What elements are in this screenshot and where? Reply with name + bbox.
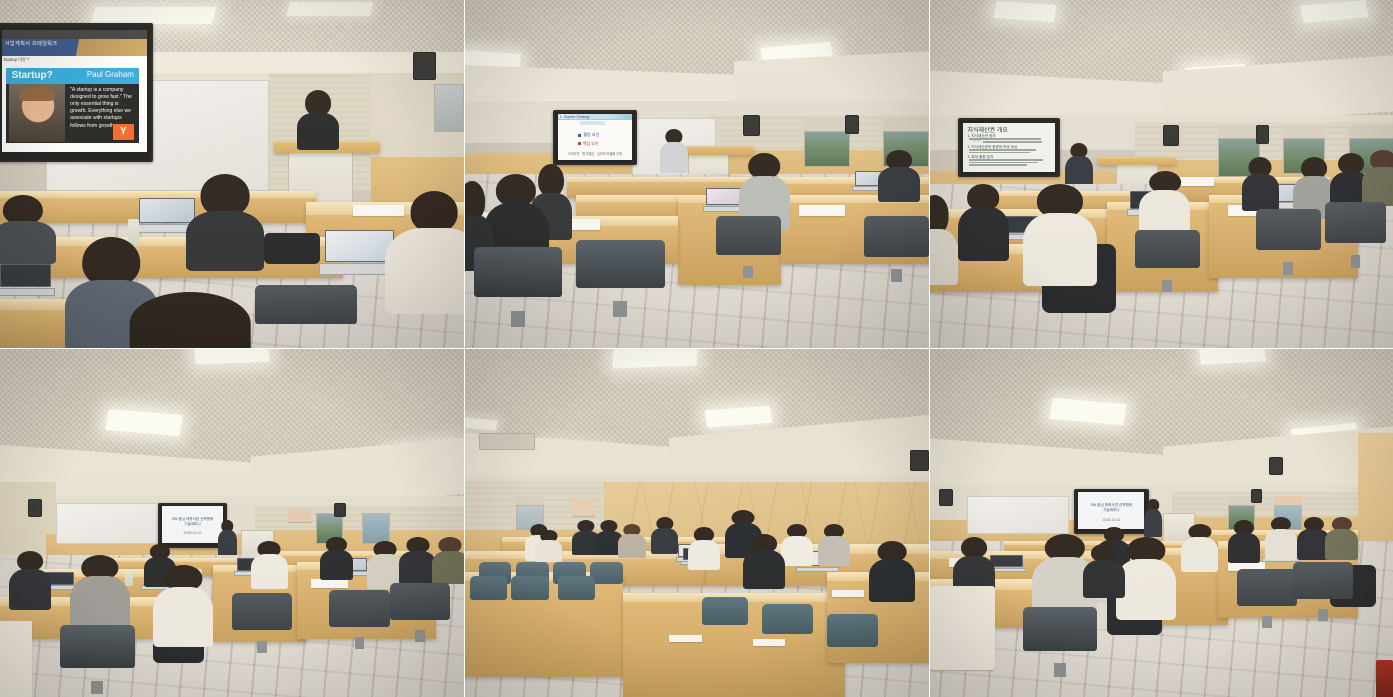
- teal-chair: [470, 576, 507, 614]
- student: [1228, 520, 1261, 569]
- chair-base: [415, 630, 425, 642]
- ceiling-speaker: [1269, 457, 1283, 474]
- chair-backrest: [511, 576, 548, 600]
- chair-base: [1262, 616, 1272, 628]
- photo-tile-3[interactable]: 지식재산권 개요 1. 지식재산권 정의 2. 지식재산권의 종류와 보호 대상…: [930, 0, 1393, 348]
- ceiling-lamp: [194, 349, 269, 364]
- slide-bullet-2-label: 핵심 요인: [583, 141, 599, 147]
- office-chair: [1135, 230, 1200, 293]
- student: [869, 541, 915, 611]
- student: [320, 537, 352, 586]
- laptop-screen: [0, 264, 51, 287]
- slide-tab: [580, 121, 605, 125]
- student: [9, 551, 51, 617]
- office-chair: [329, 590, 389, 649]
- photo-collage-grid: 사업계획서 프레임워크 Startup 이란 ? Startup? Paul G…: [0, 0, 1393, 697]
- office-chair: [474, 247, 562, 327]
- chair-base: [91, 681, 103, 695]
- chair-backrest: [1293, 562, 1353, 599]
- student: [385, 191, 464, 330]
- office-chair: [1237, 569, 1297, 628]
- chair-backrest: [329, 590, 389, 627]
- window-blind: [572, 499, 595, 516]
- teal-chair: [590, 562, 622, 597]
- laptop-base: [0, 288, 55, 296]
- slide-bullet-1-label: 활동 요인: [583, 132, 599, 138]
- projector-screen: 1. Superb Strategy 활동 요인 핵심 요인 고객가치 · 원가…: [553, 110, 637, 166]
- ceiling-lamp: [286, 2, 373, 16]
- student-torso: [878, 167, 920, 202]
- slide-line-3: 2025.10.02: [1102, 518, 1120, 522]
- screen-surface: 지식재산권 개요 1. 지식재산권 정의 2. 지식재산권의 종류와 보호 대상…: [963, 123, 1055, 173]
- student: [781, 524, 813, 573]
- white-cloth: [930, 586, 995, 670]
- student-torso: [320, 550, 352, 580]
- student-torso: [1265, 529, 1298, 559]
- chair-backrest: [232, 593, 292, 630]
- ceiling-speaker: [910, 450, 929, 471]
- student-torso: [1083, 560, 1125, 599]
- student-torso: [781, 536, 813, 566]
- window-blind: [1283, 125, 1325, 139]
- student: [618, 524, 646, 562]
- office-chair: [390, 583, 450, 642]
- projector-screen: 지식재산권 개요 1. 지식재산권 정의 2. 지식재산권의 종류와 보호 대상…: [958, 118, 1060, 177]
- student-head: [130, 292, 251, 348]
- ceiling-speaker: [28, 499, 42, 516]
- chair-backrest: [558, 576, 595, 600]
- slide-text-line: [969, 149, 1036, 151]
- chair-backrest: [762, 604, 813, 634]
- ceiling-speaker: [413, 52, 436, 80]
- office-chair: [232, 593, 292, 652]
- student: [1242, 157, 1279, 216]
- presenter-torso: [218, 530, 237, 558]
- student-torso: [9, 569, 51, 610]
- teal-chair: [558, 576, 595, 614]
- office-chair: [1023, 607, 1097, 677]
- fire-extinguisher: [1376, 660, 1392, 697]
- slide-deck-title: 사업계획서 프레임워크: [5, 40, 57, 47]
- student: [743, 534, 785, 597]
- portrait-hair: [19, 87, 55, 102]
- laptop-screen: [990, 555, 1023, 568]
- window: [362, 513, 390, 544]
- student: [1265, 517, 1298, 566]
- office-chair: [864, 216, 929, 282]
- student: [651, 517, 679, 559]
- chair-backrest: [1325, 202, 1385, 243]
- office-chair: [576, 240, 664, 317]
- office-chair: [255, 285, 357, 348]
- slide-seminar-title: SW 중심 대학사업 산학협력 기술세미나 2025.10.02: [162, 506, 224, 543]
- slide-text-line: [969, 162, 1037, 164]
- bullet-dot-icon: [578, 134, 581, 137]
- student-torso: [869, 559, 915, 602]
- paper-sheet: [669, 635, 701, 642]
- laptop: [990, 555, 1023, 572]
- chair-backrest: [702, 597, 748, 625]
- teal-chair: [762, 604, 813, 653]
- slide-text-line: [983, 141, 1042, 143]
- screen-surface: SW 중심 대학사업 산학협력 기술세미나 2025.10.02: [162, 506, 224, 543]
- slide-card-header: Startup? Paul Graham: [6, 68, 139, 84]
- portrait-photo: [9, 84, 65, 141]
- slide-bullet-1: 활동 요인: [578, 132, 599, 138]
- slide-bullet-2: 핵심 요인: [578, 141, 599, 147]
- ceiling-speaker: [939, 489, 953, 506]
- slide-text-line: [969, 159, 1043, 161]
- office-chair: [60, 625, 134, 695]
- slide-line-2: 기술세미나: [1103, 508, 1120, 513]
- student: [0, 195, 56, 265]
- student-torso: [1242, 174, 1279, 211]
- student: [818, 524, 850, 573]
- teal-chair: [702, 597, 748, 642]
- slide-text-line: [969, 152, 1030, 154]
- projector-screen: 사업계획서 프레임워크 Startup 이란 ? Startup? Paul G…: [0, 23, 153, 162]
- slide-card-heading: Startup?: [12, 70, 53, 81]
- student: [1181, 524, 1218, 580]
- whiteboard: [967, 496, 1069, 534]
- projector-screen: SW 중심 대학사업 산학협력 기술세미나 2025.10.02: [158, 503, 228, 548]
- chair-base: [511, 311, 525, 327]
- backpack: [264, 233, 320, 264]
- window: [434, 84, 464, 133]
- slide-topbar: [2, 30, 147, 39]
- slide-paul-graham: 사업계획서 프레임워크 Startup 이란 ? Startup? Paul G…: [2, 30, 147, 152]
- chair-backrest: [590, 562, 622, 584]
- student: [878, 150, 920, 206]
- student-torso: [958, 207, 1009, 261]
- photo-tile-2[interactable]: 1. Superb Strategy 활동 요인 핵심 요인 고객가치 · 원가…: [465, 0, 929, 348]
- chair-backrest: [1023, 607, 1097, 650]
- window-blind: [804, 118, 850, 132]
- chair-backrest: [576, 240, 664, 287]
- student-torso: [385, 228, 464, 314]
- ceiling-speaker: [743, 115, 759, 136]
- chair-backrest: [1256, 209, 1321, 250]
- teal-chair: [511, 576, 548, 614]
- student-torso: [618, 534, 646, 558]
- paper-sheet: [799, 205, 845, 215]
- office-chair: [1325, 202, 1385, 268]
- ceiling-speaker: [334, 503, 346, 517]
- chair-backrest: [827, 614, 878, 646]
- laptop: [325, 230, 395, 275]
- window-blind: [1218, 125, 1260, 139]
- teal-chair: [827, 614, 878, 666]
- bullet-dot-icon: [578, 142, 581, 145]
- slide-card: Startup? Paul Graham "A startup is a com…: [6, 68, 139, 143]
- ceiling-lamp: [613, 349, 697, 368]
- screen-surface: 사업계획서 프레임워크 Startup 이란 ? Startup? Paul G…: [2, 30, 147, 152]
- presenter: [660, 129, 688, 178]
- student-torso: [1325, 529, 1358, 559]
- student: [1083, 544, 1125, 607]
- photo-tile-5[interactable]: [465, 349, 929, 697]
- student: [930, 195, 958, 285]
- student: [130, 292, 251, 348]
- chair-backrest: [60, 625, 134, 668]
- student: [153, 565, 213, 663]
- slide-line-3: 2025.10.02: [184, 531, 202, 535]
- ceiling-speaker: [1251, 489, 1263, 503]
- slide-strategy: 1. Superb Strategy 활동 요인 핵심 요인 고객가치 · 원가…: [558, 114, 633, 161]
- photo-tile-4[interactable]: SW 중심 대학사업 산학협력 기술세미나 2025.10.02: [0, 349, 464, 697]
- screen-surface: SW 중심 대학사업 산학협력 기술세미나 2025.10.02: [1078, 492, 1144, 529]
- paper-sheet: [832, 590, 864, 597]
- office-chair: [1293, 562, 1353, 621]
- slide-card-attribution: Paul Graham: [87, 70, 134, 79]
- presenter-torso: [297, 113, 339, 150]
- student: [186, 174, 265, 271]
- office-chair: [716, 216, 781, 279]
- student-torso: [930, 229, 958, 285]
- student: [251, 541, 288, 597]
- chair-backrest: [716, 216, 781, 255]
- chair-backrest: [255, 285, 357, 324]
- podium-desk-top: [1097, 157, 1176, 166]
- chair-base: [613, 301, 627, 316]
- whiteboard: [56, 503, 167, 545]
- chair-backrest: [470, 576, 507, 600]
- student-torso: [818, 536, 850, 566]
- chair-base: [1162, 280, 1172, 293]
- student: [958, 184, 1009, 271]
- white-cloth: [0, 621, 32, 697]
- chair-backrest: [390, 583, 450, 620]
- presenter: [297, 90, 339, 149]
- window-blind: [1349, 125, 1393, 139]
- slide-seminar-title: SW 중심 대학사업 산학협력 기술세미나 2025.10.02: [1078, 492, 1144, 529]
- student: [535, 530, 563, 565]
- student-torso: [1181, 537, 1218, 572]
- window-blind: [883, 118, 929, 132]
- chair-base: [1283, 262, 1293, 275]
- ceiling-speaker: [1256, 125, 1270, 144]
- laptop-screen: [325, 230, 395, 263]
- chair-base: [743, 266, 753, 279]
- student: [1325, 517, 1358, 566]
- student: [688, 527, 720, 576]
- laptop: [0, 264, 51, 295]
- slide-subheading: Startup 이란 ?: [3, 57, 29, 63]
- student-torso: [1362, 167, 1393, 206]
- student-torso: [0, 221, 56, 264]
- slide-text-line: [969, 164, 1026, 166]
- student-torso: [186, 211, 265, 271]
- window-blind: [516, 496, 544, 506]
- chair-backrest: [1135, 230, 1200, 269]
- student-torso: [251, 554, 288, 589]
- presenter-torso: [660, 142, 688, 172]
- slide-header-title: 1. Superb Strategy: [560, 115, 590, 119]
- student-torso: [688, 540, 720, 570]
- office-chair: [1256, 209, 1321, 275]
- student-head: [410, 191, 457, 233]
- student-torso: [432, 551, 464, 583]
- presenter-torso: [1144, 509, 1163, 537]
- ceiling-speaker: [845, 115, 859, 134]
- chair-base: [1054, 663, 1066, 677]
- student-torso: [651, 528, 679, 554]
- slide-highlight-box: [972, 140, 981, 142]
- chair-base: [891, 269, 901, 282]
- slide-ip-overview: 지식재산권 개요 1. 지식재산권 정의 2. 지식재산권의 종류와 보호 대상…: [963, 123, 1055, 173]
- chair-base: [1318, 609, 1328, 621]
- ceiling-lamp: [90, 7, 216, 24]
- air-conditioner-vent: [479, 433, 535, 450]
- student-torso: [535, 540, 563, 562]
- photo-tile-1[interactable]: 사업계획서 프레임워크 Startup 이란 ? Startup? Paul G…: [0, 0, 464, 348]
- photo-tile-6[interactable]: SW 중심 대학사업 산학협력 기술세미나 2025.10.02: [930, 349, 1393, 697]
- student-torso: [1228, 533, 1261, 563]
- window-blind: [288, 510, 311, 524]
- desk-surface: [576, 195, 678, 202]
- chair-base: [1351, 255, 1361, 268]
- slide-footer: 고객가치 · 원가절감 · 심리적 차별화 우위: [568, 151, 622, 156]
- student-torso: [153, 587, 213, 648]
- chair-backrest: [474, 247, 562, 297]
- student-torso: [743, 550, 785, 589]
- ceiling-speaker: [1163, 125, 1179, 146]
- chair-backrest: [864, 216, 929, 257]
- slide-line-2: 기술세미나: [184, 522, 201, 527]
- chair-base: [355, 637, 365, 649]
- window-blind: [1274, 496, 1302, 506]
- chair-backrest: [1237, 569, 1297, 606]
- student-torso: [1023, 213, 1097, 286]
- student: [1023, 184, 1097, 302]
- chair-base: [257, 641, 267, 653]
- y-combinator-logo-icon: Y: [113, 124, 134, 141]
- screen-surface: 1. Superb Strategy 활동 요인 핵심 요인 고객가치 · 원가…: [558, 114, 633, 161]
